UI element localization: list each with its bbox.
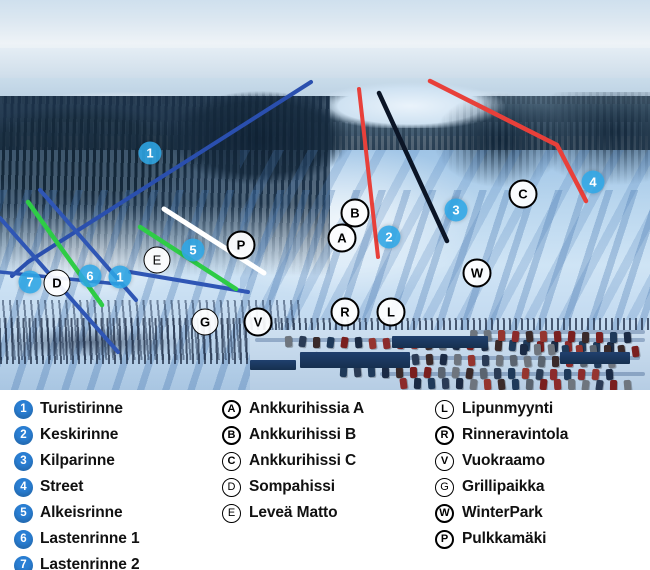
legend-badge-4: 4	[14, 478, 33, 497]
map-marker-facility-A[interactable]: A	[328, 224, 357, 253]
legend-column-slopes: 1Turistirinne2Keskirinne3Kilparinne4Stre…	[14, 396, 139, 570]
legend-label: Ankkurihissi C	[249, 452, 356, 470]
legend-item-6[interactable]: 6Lastenrinne 1	[14, 526, 139, 552]
legend-item-B[interactable]: BAnkkurihissi B	[222, 422, 364, 448]
legend-item-P[interactable]: PPulkkamäki	[435, 526, 568, 552]
map-marker-facility-R[interactable]: R	[331, 298, 360, 327]
legend-label: Ankkurihissia A	[249, 400, 364, 418]
legend-label: Alkeisrinne	[40, 504, 122, 522]
map-marker-slope-5[interactable]: 5	[182, 239, 205, 262]
legend-item-L[interactable]: LLipunmyynti	[435, 396, 568, 422]
trail-line-turistirinne	[28, 82, 311, 262]
legend-badge-E: E	[222, 504, 241, 523]
legend-label: Lastenrinne 2	[40, 556, 139, 570]
legend-item-D[interactable]: DSompahissi	[222, 474, 364, 500]
legend-label: Lastenrinne 1	[40, 530, 139, 548]
legend-label: Ankkurihissi B	[249, 426, 356, 444]
legend-label: Street	[40, 478, 83, 496]
legend-label: WinterPark	[462, 504, 543, 522]
legend-badge-W: W	[435, 504, 454, 523]
map-marker-facility-L[interactable]: L	[377, 298, 406, 327]
legend-label: Vuokraamo	[462, 452, 545, 470]
trail-line-red-street	[430, 81, 586, 201]
legend-item-W[interactable]: WWinterPark	[435, 500, 568, 526]
legend-label: Pulkkamäki	[462, 530, 546, 548]
legend-badge-L: L	[435, 400, 454, 419]
map-marker-facility-P[interactable]: P	[227, 231, 256, 260]
legend-badge-7: 7	[14, 556, 33, 570]
legend-label: Rinneravintola	[462, 426, 568, 444]
legend-badge-A: A	[222, 400, 241, 419]
legend-item-1[interactable]: 1Turistirinne	[14, 396, 139, 422]
map-marker-facility-V[interactable]: V	[244, 308, 273, 337]
map-marker-slope-1[interactable]: 1	[109, 266, 132, 289]
legend-badge-B: B	[222, 426, 241, 445]
legend-item-R[interactable]: RRinneravintola	[435, 422, 568, 448]
legend-label: Sompahissi	[249, 478, 335, 496]
ski-trail-map-page: 17615234DEPGVABCRLW 1Turistirinne2Keskir…	[0, 0, 650, 570]
legend-item-2[interactable]: 2Keskirinne	[14, 422, 139, 448]
trail-line-red-keskirinne	[359, 89, 378, 257]
legend-item-G[interactable]: GGrillipaikka	[435, 474, 568, 500]
map-marker-facility-C[interactable]: C	[509, 180, 538, 209]
legend-panel: 1Turistirinne2Keskirinne3Kilparinne4Stre…	[0, 390, 650, 570]
legend-label: Turistirinne	[40, 400, 123, 418]
legend-label: Keskirinne	[40, 426, 118, 444]
legend-badge-6: 6	[14, 530, 33, 549]
legend-badge-5: 5	[14, 504, 33, 523]
map-marker-facility-G[interactable]: G	[192, 309, 219, 336]
map-marker-slope-1[interactable]: 1	[139, 142, 162, 165]
map-marker-facility-E[interactable]: E	[144, 247, 171, 274]
legend-badge-R: R	[435, 426, 454, 445]
legend-label: Kilparinne	[40, 452, 115, 470]
map-marker-slope-3[interactable]: 3	[445, 199, 468, 222]
legend-item-C[interactable]: CAnkkurihissi C	[222, 448, 364, 474]
legend-item-7[interactable]: 7Lastenrinne 2	[14, 552, 139, 570]
legend-badge-P: P	[435, 530, 454, 549]
legend-item-A[interactable]: AAnkkurihissia A	[222, 396, 364, 422]
legend-badge-1: 1	[14, 400, 33, 419]
legend-label: Lipunmyynti	[462, 400, 553, 418]
trail-line-black-kilparinne	[379, 93, 447, 241]
legend-badge-D: D	[222, 478, 241, 497]
legend-badge-2: 2	[14, 426, 33, 445]
map-marker-facility-B[interactable]: B	[341, 199, 370, 228]
aerial-photo: 17615234DEPGVABCRLW	[0, 0, 650, 390]
legend-label: Leveä Matto	[249, 504, 337, 522]
legend-column-services: LLipunmyyntiRRinneravintolaVVuokraamoGGr…	[435, 396, 568, 552]
legend-badge-G: G	[435, 478, 454, 497]
legend-item-V[interactable]: VVuokraamo	[435, 448, 568, 474]
legend-badge-3: 3	[14, 452, 33, 471]
map-marker-slope-7[interactable]: 7	[19, 271, 42, 294]
legend-label: Grillipaikka	[462, 478, 544, 496]
legend-item-5[interactable]: 5Alkeisrinne	[14, 500, 139, 526]
map-marker-slope-6[interactable]: 6	[79, 265, 102, 288]
trail-line-blue-c	[130, 272, 248, 292]
legend-badge-V: V	[435, 452, 454, 471]
legend-item-E[interactable]: ELeveä Matto	[222, 500, 364, 526]
map-marker-slope-2[interactable]: 2	[378, 226, 401, 249]
legend-badge-C: C	[222, 452, 241, 471]
map-marker-slope-4[interactable]: 4	[582, 171, 605, 194]
map-marker-facility-W[interactable]: W	[463, 259, 492, 288]
legend-item-3[interactable]: 3Kilparinne	[14, 448, 139, 474]
legend-column-lifts: AAnkkurihissia ABAnkkurihissi BCAnkkurih…	[222, 396, 364, 526]
legend-item-4[interactable]: 4Street	[14, 474, 139, 500]
map-marker-facility-D[interactable]: D	[44, 270, 71, 297]
trail-overlay	[0, 0, 650, 390]
